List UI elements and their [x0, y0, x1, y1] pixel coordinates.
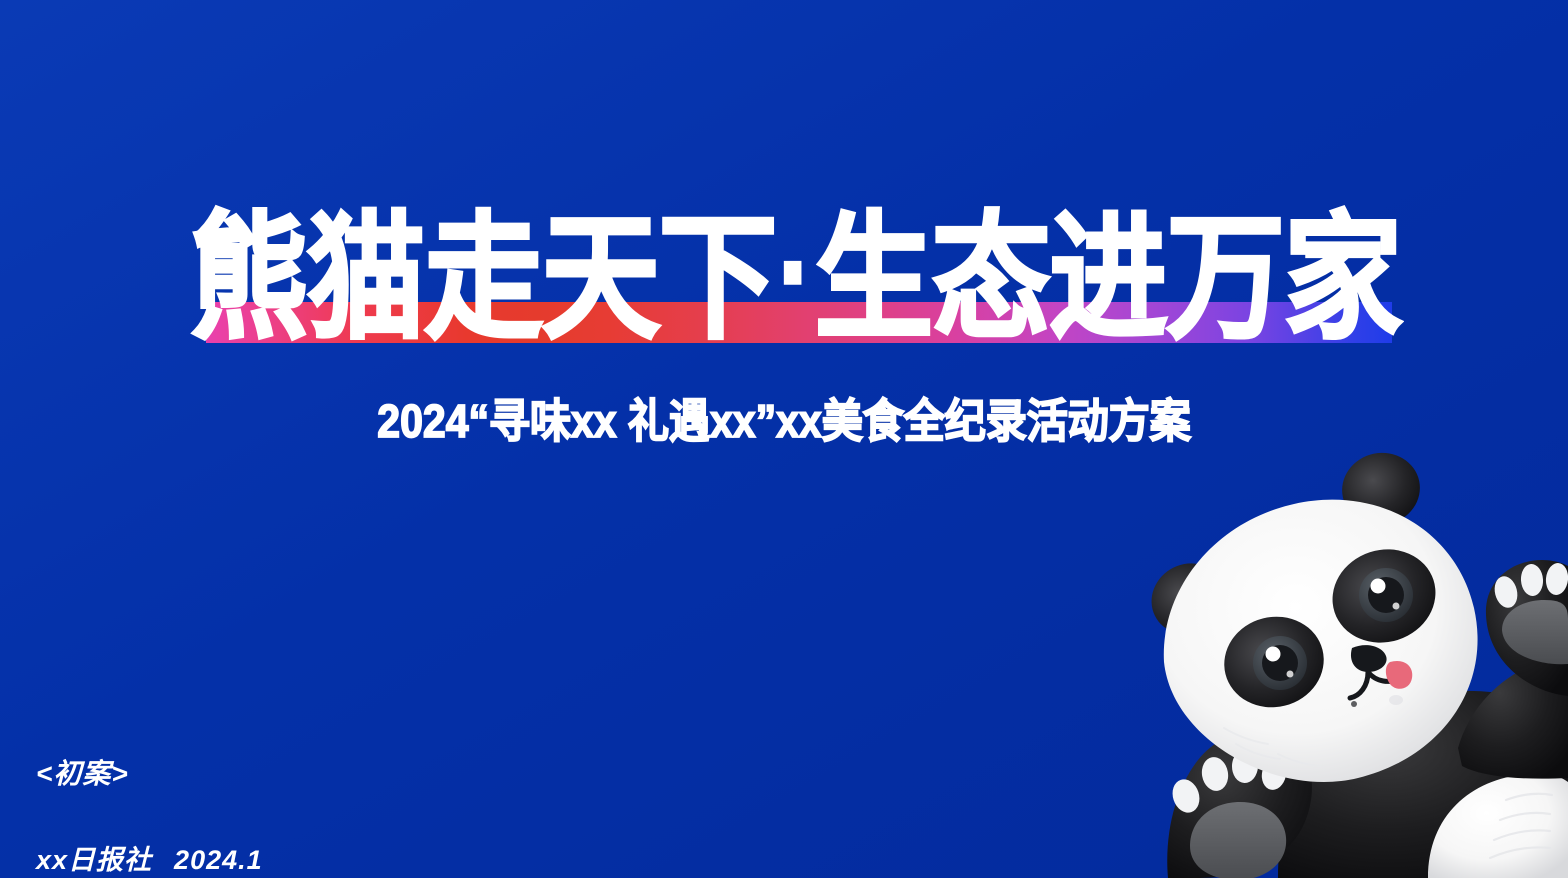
publisher-name: xx日报社 [36, 845, 152, 875]
panda-tongue [1386, 661, 1412, 689]
draft-status-label: <初案> [36, 752, 129, 792]
title-separator-dot: · [778, 203, 812, 340]
title-char-8: 进 [1049, 210, 1165, 347]
title-char-9: 万 [1167, 210, 1283, 347]
title-char-6: 生 [815, 210, 931, 347]
panda-nose-mouth [1350, 645, 1412, 707]
title-char-5: 下 [659, 210, 775, 347]
panda-right-paw [1458, 560, 1568, 779]
page-subtitle: 2024“寻味xx 礼遇xx”xx美食全纪录活动方案 [0, 383, 1568, 450]
panda-eye-right [1359, 568, 1413, 622]
panda-left-paw [1167, 731, 1312, 878]
title-block: 熊 猫 走 天 下 · 生 态 进 万 家 [190, 206, 1400, 351]
title-char-1: 熊 [190, 210, 306, 347]
publication-date: 2024.1 [174, 845, 263, 875]
title-char-10: 家 [1284, 210, 1400, 347]
page-title: 熊 猫 走 天 下 · 生 态 进 万 家 [190, 194, 1400, 362]
title-char-7: 态 [932, 210, 1048, 347]
presentation-cover-slide: 熊 猫 走 天 下 · 生 态 进 万 家 2024“寻味xx 礼遇xx”xx美… [0, 0, 1568, 878]
title-char-4: 天 [542, 210, 658, 347]
panda-body [1278, 691, 1568, 878]
title-char-3: 走 [425, 210, 541, 347]
panda-ears [1140, 448, 1427, 647]
panda-illustration [1128, 448, 1568, 878]
publisher-credit-line: xx日报社2024.1 [36, 838, 263, 877]
title-char-2: 猫 [307, 210, 423, 347]
panda-eye-left [1253, 636, 1307, 690]
panda-head [1164, 500, 1478, 782]
